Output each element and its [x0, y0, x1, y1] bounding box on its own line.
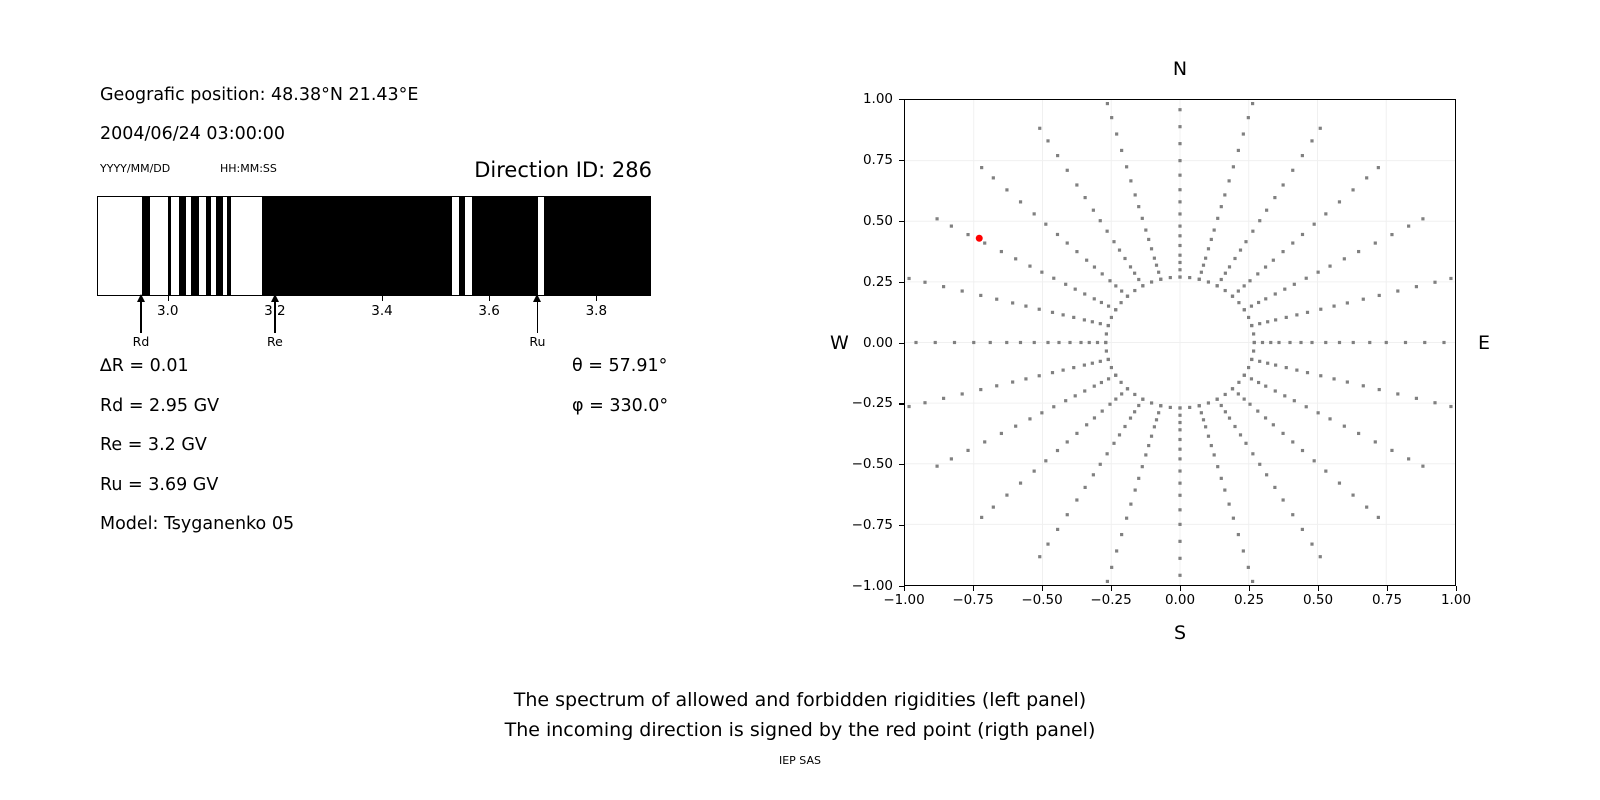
- direction-point: [1099, 463, 1102, 466]
- direction-point: [1066, 513, 1069, 516]
- direction-point: [1074, 288, 1077, 291]
- forbidden-band: [216, 197, 223, 295]
- direction-point: [1274, 292, 1277, 295]
- direction-point-inner-ring: [1237, 381, 1240, 384]
- direction-point: [1282, 498, 1285, 501]
- x-axis-tick: [1249, 586, 1250, 591]
- direction-point: [1306, 311, 1309, 314]
- direction-point: [1024, 305, 1027, 308]
- direction-point-inner-ring: [1247, 316, 1250, 319]
- direction-point: [1052, 405, 1055, 408]
- direction-point-inner-ring: [1250, 358, 1253, 361]
- direction-point: [1200, 271, 1203, 274]
- direction-point: [1000, 250, 1003, 253]
- direction-point: [1108, 403, 1111, 406]
- marker-shaft: [274, 300, 275, 333]
- direction-point: [1125, 165, 1128, 168]
- direction-point: [1038, 308, 1041, 311]
- direction-point: [1202, 264, 1205, 267]
- direction-point: [1178, 268, 1181, 271]
- direction-point: [1075, 250, 1078, 253]
- direction-point: [1228, 179, 1231, 182]
- param-model: Model: Tsyganenko 05: [100, 514, 294, 534]
- direction-point-inner-ring: [1107, 324, 1110, 327]
- direction-point: [1421, 465, 1424, 468]
- direction-point: [1028, 265, 1031, 268]
- forbidden-band: [168, 197, 171, 295]
- direction-point: [983, 241, 986, 244]
- direction-point: [1313, 223, 1316, 226]
- direction-point: [1075, 183, 1078, 186]
- direction-point-inner-ring: [1252, 332, 1255, 335]
- compass-north-label: N: [1173, 58, 1187, 80]
- direction-point: [953, 341, 956, 344]
- direction-point: [1317, 271, 1320, 274]
- direction-point: [1224, 272, 1227, 275]
- direction-point: [1251, 102, 1254, 105]
- direction-point: [1141, 465, 1144, 468]
- direction-point: [1449, 277, 1452, 280]
- param-theta: θ = 57.91°: [572, 356, 667, 376]
- direction-point: [1178, 254, 1181, 257]
- direction-point: [1291, 513, 1294, 516]
- direction-point: [1378, 294, 1381, 297]
- direction-point: [1075, 432, 1078, 435]
- direction-point: [1338, 341, 1341, 344]
- spectrum-marker-label: Rd: [133, 334, 150, 349]
- direction-point: [1101, 409, 1104, 412]
- direction-point: [1011, 301, 1014, 304]
- direction-point: [1338, 200, 1341, 203]
- direction-point: [1324, 341, 1327, 344]
- direction-point: [1378, 388, 1381, 391]
- direction-point: [1343, 257, 1346, 260]
- direction-point: [1220, 205, 1223, 208]
- direction-point: [995, 298, 998, 301]
- direction-point: [1123, 257, 1126, 260]
- marker-shaft: [537, 300, 538, 333]
- direction-point-inner-ring: [1247, 366, 1250, 369]
- direction-point: [1114, 397, 1117, 400]
- direction-point: [1365, 176, 1368, 179]
- direction-point: [935, 217, 938, 220]
- geographic-position-text: Geografic position: 48.38°N 21.43°E: [100, 85, 418, 105]
- direction-point: [1301, 449, 1304, 452]
- forbidden-band: [191, 197, 199, 295]
- direction-point: [1178, 494, 1181, 497]
- direction-point-inner-ring: [1243, 308, 1246, 311]
- direction-point: [1237, 533, 1240, 536]
- direction-point: [1112, 240, 1115, 243]
- direction-point: [934, 341, 937, 344]
- direction-point: [1107, 305, 1110, 308]
- direction-point: [1137, 278, 1140, 281]
- x-axis-tick: [1180, 586, 1181, 591]
- direction-point: [1319, 374, 1322, 377]
- x-axis-tick-label: 0.50: [1303, 592, 1333, 608]
- direction-point-inner-ring: [1198, 404, 1201, 407]
- direction-point: [1091, 320, 1094, 323]
- direction-point: [1357, 250, 1360, 253]
- direction-point: [1352, 341, 1355, 344]
- direction-point: [1213, 228, 1216, 231]
- direction-point-inner-ring: [1141, 398, 1144, 401]
- direction-point-inner-ring: [1231, 295, 1234, 298]
- direction-point: [1301, 154, 1304, 157]
- direction-point: [1118, 249, 1121, 252]
- direction-scatter-svg: [905, 100, 1455, 585]
- x-axis-tick-label: 0.75: [1372, 592, 1402, 608]
- direction-point: [1038, 374, 1041, 377]
- direction-point: [1178, 188, 1181, 191]
- direction-point: [1251, 230, 1254, 233]
- direction-point: [1239, 433, 1242, 436]
- forbidden-band: [472, 197, 538, 295]
- direction-point: [1040, 411, 1043, 414]
- y-axis-tick-label: 0.25: [863, 274, 893, 290]
- direction-point: [1019, 482, 1022, 485]
- y-axis-tick: [899, 343, 904, 344]
- direction-point: [1056, 233, 1059, 236]
- direction-point: [1153, 425, 1156, 428]
- direction-point: [1178, 508, 1181, 511]
- y-axis-tick: [899, 282, 904, 283]
- direction-point: [1396, 289, 1399, 292]
- direction-point: [1377, 516, 1380, 519]
- forbidden-band: [544, 197, 651, 295]
- direction-point-inner-ring: [1207, 401, 1210, 404]
- direction-point: [1291, 241, 1294, 244]
- direction-point: [1033, 341, 1036, 344]
- direction-point: [1266, 362, 1269, 365]
- direction-point: [1421, 217, 1424, 220]
- direction-point-inner-ring: [1178, 275, 1181, 278]
- y-axis-tick-label: 0.00: [863, 335, 893, 351]
- param-rd: Rd = 2.95 GV: [100, 396, 219, 416]
- direction-point: [995, 384, 998, 387]
- direction-point-inner-ring: [1198, 278, 1201, 281]
- direction-point: [1343, 425, 1346, 428]
- direction-point: [1273, 196, 1276, 199]
- direction-point: [1118, 433, 1121, 436]
- direction-point: [1178, 234, 1181, 237]
- direction-point: [1291, 169, 1294, 172]
- direction-point: [1129, 265, 1132, 268]
- x-axis-tick: [973, 586, 974, 591]
- direction-point: [1257, 301, 1260, 304]
- direction-point: [1085, 259, 1088, 262]
- direction-point: [1210, 444, 1213, 447]
- direction-point-inner-ring: [1133, 289, 1136, 292]
- direction-point-inner-ring: [1141, 284, 1144, 287]
- direction-point: [1083, 318, 1086, 321]
- direction-point: [1449, 405, 1452, 408]
- direction-point: [1204, 257, 1207, 260]
- direction-point: [1295, 313, 1298, 316]
- direction-point: [1093, 265, 1096, 268]
- direction-point-inner-ring: [1237, 301, 1240, 304]
- param-phi: φ = 330.0°: [572, 396, 668, 416]
- y-axis-tick-label: 0.50: [863, 213, 893, 229]
- direction-point-inner-ring: [1133, 393, 1136, 396]
- direction-point-inner-ring: [1159, 404, 1162, 407]
- direction-point: [1141, 217, 1144, 220]
- direction-point: [1075, 498, 1078, 501]
- direction-point: [1306, 371, 1309, 374]
- direction-point: [1216, 217, 1219, 220]
- direction-point: [1115, 132, 1118, 135]
- direction-point: [1093, 385, 1096, 388]
- direction-point: [950, 225, 953, 228]
- direction-point: [1120, 533, 1123, 536]
- direction-point: [1150, 435, 1153, 438]
- direction-point: [1114, 284, 1117, 287]
- direction-point: [1178, 523, 1181, 526]
- direction-point: [1112, 442, 1115, 445]
- direction-point: [1120, 149, 1123, 152]
- direction-point: [1283, 394, 1286, 397]
- spectrum-axis-tick-label: 3.6: [478, 303, 499, 319]
- direction-point: [1147, 238, 1150, 241]
- direction-point: [1178, 244, 1181, 247]
- direction-point-inner-ring: [1188, 406, 1191, 409]
- direction-point-inner-ring: [1178, 406, 1181, 409]
- direction-point: [1014, 425, 1017, 428]
- direction-point: [992, 506, 995, 509]
- direction-id-label: Direction ID: 286: [474, 158, 652, 182]
- direction-point: [1374, 241, 1377, 244]
- direction-point: [1178, 469, 1181, 472]
- direction-point: [1083, 389, 1086, 392]
- direction-point: [923, 401, 926, 404]
- direction-point: [979, 388, 982, 391]
- direction-point: [1258, 322, 1261, 325]
- direction-point: [1178, 108, 1181, 111]
- direction-point: [1120, 392, 1123, 395]
- direction-point: [1433, 401, 1436, 404]
- direction-point: [1038, 555, 1041, 558]
- direction-point: [1251, 580, 1254, 583]
- forbidden-band: [142, 197, 150, 295]
- direction-point: [1178, 225, 1181, 228]
- direction-point: [1110, 566, 1113, 569]
- direction-point: [1014, 257, 1017, 260]
- direction-point: [1224, 410, 1227, 413]
- direction-point: [1239, 249, 1242, 252]
- direction-point: [1228, 265, 1231, 268]
- direction-point: [1083, 292, 1086, 295]
- y-axis-tick-label: −0.75: [852, 517, 893, 533]
- direction-point: [1351, 188, 1354, 191]
- direction-point: [1288, 341, 1291, 344]
- spectrum-axis-tick: [168, 296, 169, 301]
- direction-point: [1100, 381, 1103, 384]
- y-axis-tick-label: 1.00: [863, 91, 893, 107]
- direction-point-inner-ring: [1150, 401, 1153, 404]
- arrow-up-icon: [533, 294, 541, 302]
- direction-point: [1178, 438, 1181, 441]
- direction-point: [1074, 394, 1077, 397]
- direction-point: [1362, 298, 1365, 301]
- direction-point: [1178, 125, 1181, 128]
- direction-point-inner-ring: [1252, 349, 1255, 352]
- direction-point: [1123, 425, 1126, 428]
- direction-point: [1106, 452, 1109, 455]
- direction-point: [1093, 416, 1096, 419]
- direction-point: [1433, 281, 1436, 284]
- direction-point: [914, 341, 917, 344]
- direction-point: [1005, 341, 1008, 344]
- incoming-direction-point: [976, 235, 983, 242]
- direction-point-inner-ring: [1250, 324, 1253, 327]
- direction-point: [1317, 411, 1320, 414]
- direction-point: [1248, 279, 1251, 282]
- direction-point-inner-ring: [1110, 316, 1113, 319]
- direction-map-plot: [904, 99, 1456, 586]
- x-axis-tick-label: −0.25: [1090, 592, 1131, 608]
- direction-point: [1390, 233, 1393, 236]
- param-ru: Ru = 3.69 GV: [100, 475, 218, 495]
- direction-point: [980, 516, 983, 519]
- direction-point: [1248, 403, 1251, 406]
- direction-point: [1107, 377, 1110, 380]
- direction-point: [1274, 364, 1277, 367]
- direction-point: [1207, 435, 1210, 438]
- spectrum-axis-tick: [382, 296, 383, 301]
- direction-point: [1155, 264, 1158, 267]
- direction-point: [1064, 283, 1067, 286]
- direction-point-inner-ring: [1169, 406, 1172, 409]
- direction-point: [1210, 238, 1213, 241]
- direction-point: [1033, 212, 1036, 215]
- direction-point: [1040, 271, 1043, 274]
- spectrum-axis-tick-label: 3.4: [371, 303, 392, 319]
- x-axis-tick-label: −0.50: [1021, 592, 1062, 608]
- direction-point: [1220, 477, 1223, 480]
- spectrum-band: [97, 196, 651, 296]
- direction-point: [1272, 259, 1275, 262]
- date-format-hint: YYYY/MM/DD: [100, 162, 170, 175]
- x-axis-tick: [1111, 586, 1112, 591]
- direction-point: [1264, 416, 1267, 419]
- direction-point: [1244, 240, 1247, 243]
- spectrum-axis-tick-label: 3.0: [157, 303, 178, 319]
- direction-point: [1261, 341, 1264, 344]
- direction-point: [1277, 341, 1280, 344]
- direction-point: [1291, 440, 1294, 443]
- direction-point: [1202, 418, 1205, 421]
- direction-point-inner-ring: [1159, 278, 1162, 281]
- direction-point-inner-ring: [1119, 381, 1122, 384]
- x-axis-tick-label: 0.00: [1165, 592, 1195, 608]
- direction-point: [1251, 452, 1254, 455]
- direction-point: [1242, 132, 1245, 135]
- direction-point: [1274, 318, 1277, 321]
- direction-point: [1178, 574, 1181, 577]
- direction-point: [1257, 381, 1260, 384]
- direction-point: [1000, 432, 1003, 435]
- direction-point: [1338, 482, 1341, 485]
- y-axis-tick-label: −0.50: [852, 456, 893, 472]
- direction-point: [1056, 528, 1059, 531]
- direction-point: [1178, 557, 1181, 560]
- direction-point: [1137, 477, 1140, 480]
- direction-point: [1115, 549, 1118, 552]
- direction-point: [1052, 277, 1055, 280]
- direction-point: [1046, 139, 1049, 142]
- direction-point: [1096, 341, 1099, 344]
- direction-point: [1237, 392, 1240, 395]
- direction-point: [1033, 470, 1036, 473]
- direction-point: [1100, 301, 1103, 304]
- direction-point: [1385, 341, 1388, 344]
- direction-point-inner-ring: [1107, 358, 1110, 361]
- direction-point: [1120, 289, 1123, 292]
- direction-point: [1264, 265, 1267, 268]
- direction-point: [1365, 506, 1368, 509]
- direction-point-inner-ring: [1224, 393, 1227, 396]
- direction-point: [1178, 212, 1181, 215]
- direction-point: [1377, 166, 1380, 169]
- direction-point: [1178, 414, 1181, 417]
- direction-point: [1178, 421, 1181, 424]
- direction-point: [983, 440, 986, 443]
- direction-point: [1407, 457, 1410, 460]
- y-axis-tick: [899, 525, 904, 526]
- direction-point: [1407, 225, 1410, 228]
- marker-shaft: [140, 300, 141, 333]
- direction-point: [1283, 288, 1286, 291]
- right-panel: N S W E −1.00−0.75−0.50−0.250.000.250.50…: [800, 0, 1600, 800]
- direction-point: [1178, 142, 1181, 145]
- forbidden-band: [206, 197, 211, 295]
- direction-point: [1266, 320, 1269, 323]
- direction-point: [907, 405, 910, 408]
- direction-point-inner-ring: [1216, 284, 1219, 287]
- y-axis-tick-label: −0.25: [852, 395, 893, 411]
- x-axis-tick-label: 1.00: [1441, 592, 1471, 608]
- direction-point: [1285, 316, 1288, 319]
- direction-point-inner-ring: [1216, 398, 1219, 401]
- direction-point: [1310, 543, 1313, 546]
- direction-point: [1178, 482, 1181, 485]
- direction-point: [1281, 250, 1284, 253]
- direction-point: [1200, 411, 1203, 414]
- caption-line-1: The spectrum of allowed and forbidden ri…: [0, 685, 1600, 715]
- direction-point: [1038, 127, 1041, 130]
- direction-point-inner-ring: [1243, 374, 1246, 377]
- direction-point: [1137, 205, 1140, 208]
- direction-point: [1247, 566, 1250, 569]
- direction-point: [1244, 442, 1247, 445]
- direction-point: [1213, 453, 1216, 456]
- direction-point: [1301, 528, 1304, 531]
- direction-point: [1088, 341, 1091, 344]
- direction-point: [1274, 389, 1277, 392]
- direction-point: [966, 233, 969, 236]
- forbidden-band: [179, 197, 185, 295]
- direction-point-inner-ring: [1169, 276, 1172, 279]
- direction-point: [1313, 459, 1316, 462]
- direction-point: [1044, 459, 1047, 462]
- direction-point: [1011, 380, 1014, 383]
- left-panel: Geografic position: 48.38°N 21.43°E 2004…: [0, 0, 800, 800]
- direction-point: [1110, 116, 1113, 119]
- direction-point: [1091, 362, 1094, 365]
- direction-point: [1357, 432, 1360, 435]
- direction-point: [1157, 271, 1160, 274]
- direction-point-inner-ring: [1114, 374, 1117, 377]
